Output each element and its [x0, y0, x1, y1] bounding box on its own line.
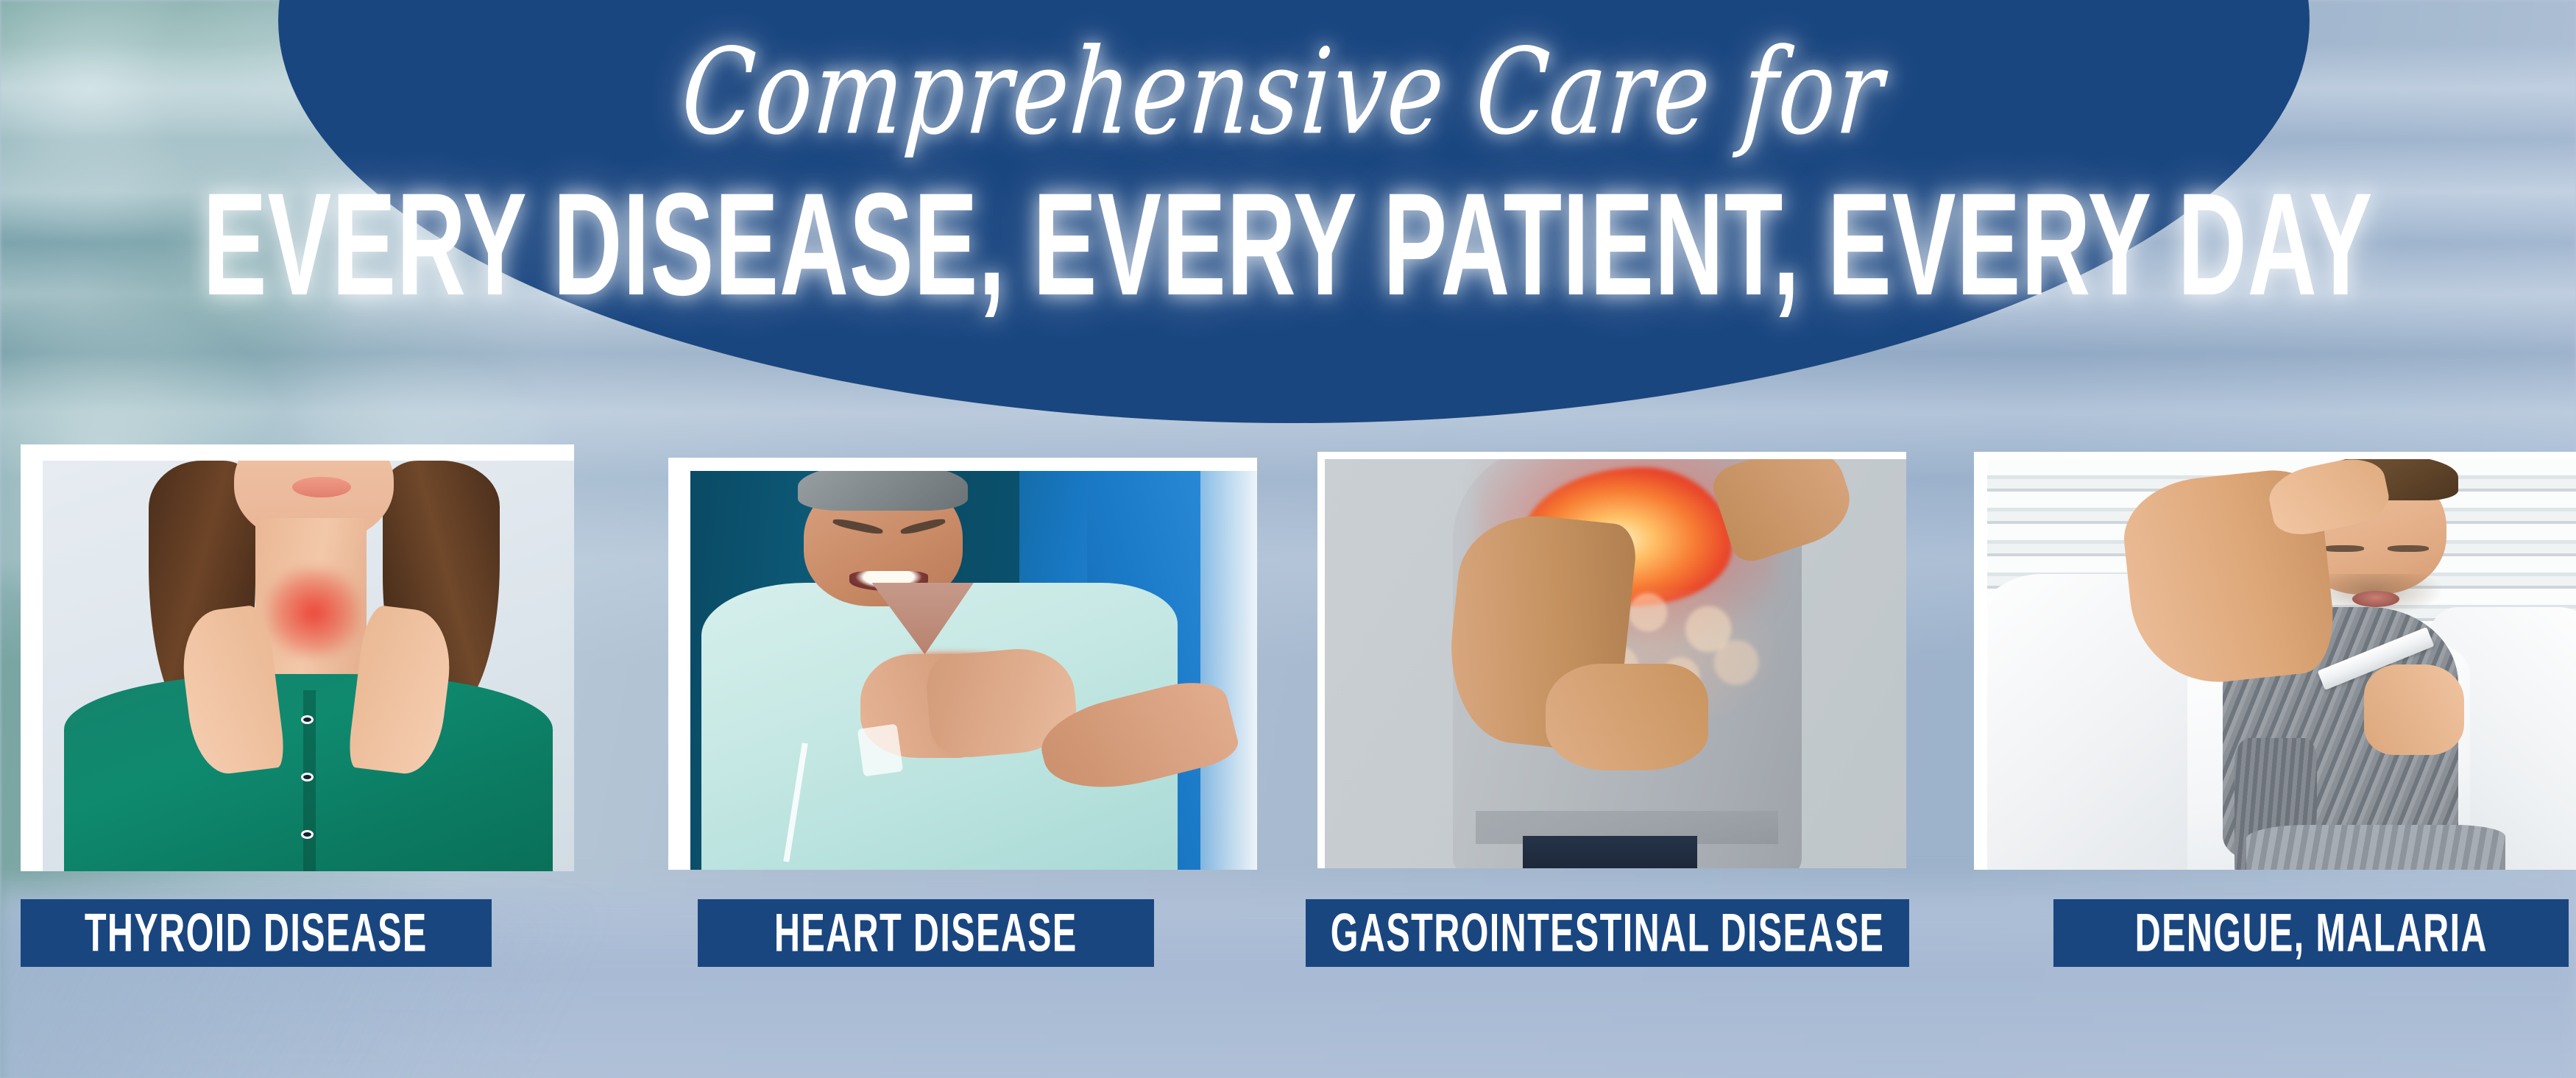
photo-dengue-malaria: [1987, 459, 2576, 870]
caption-gastrointestinal: GASTROINTESTINAL DISEASE: [1306, 899, 1909, 967]
caption-thyroid-label: THYROID DISEASE: [85, 902, 428, 964]
caption-gastrointestinal-label: GASTROINTESTINAL DISEASE: [1331, 902, 1884, 964]
photo-heart: [690, 471, 1257, 870]
disease-card-row: THYROID DISEASE: [0, 0, 2576, 1078]
photo-gastrointestinal: [1325, 459, 1906, 868]
caption-dengue-malaria-label: DENGUE, MALARIA: [2134, 902, 2487, 964]
healthcare-promo-banner: Comprehensive Care for EVERY DISEASE, EV…: [0, 0, 2576, 1078]
photo-thyroid: [43, 461, 574, 871]
caption-heart-label: HEART DISEASE: [774, 902, 1078, 964]
caption-dengue-malaria: DENGUE, MALARIA: [2053, 899, 2569, 967]
caption-thyroid: THYROID DISEASE: [21, 899, 492, 967]
caption-heart: HEART DISEASE: [698, 899, 1154, 967]
